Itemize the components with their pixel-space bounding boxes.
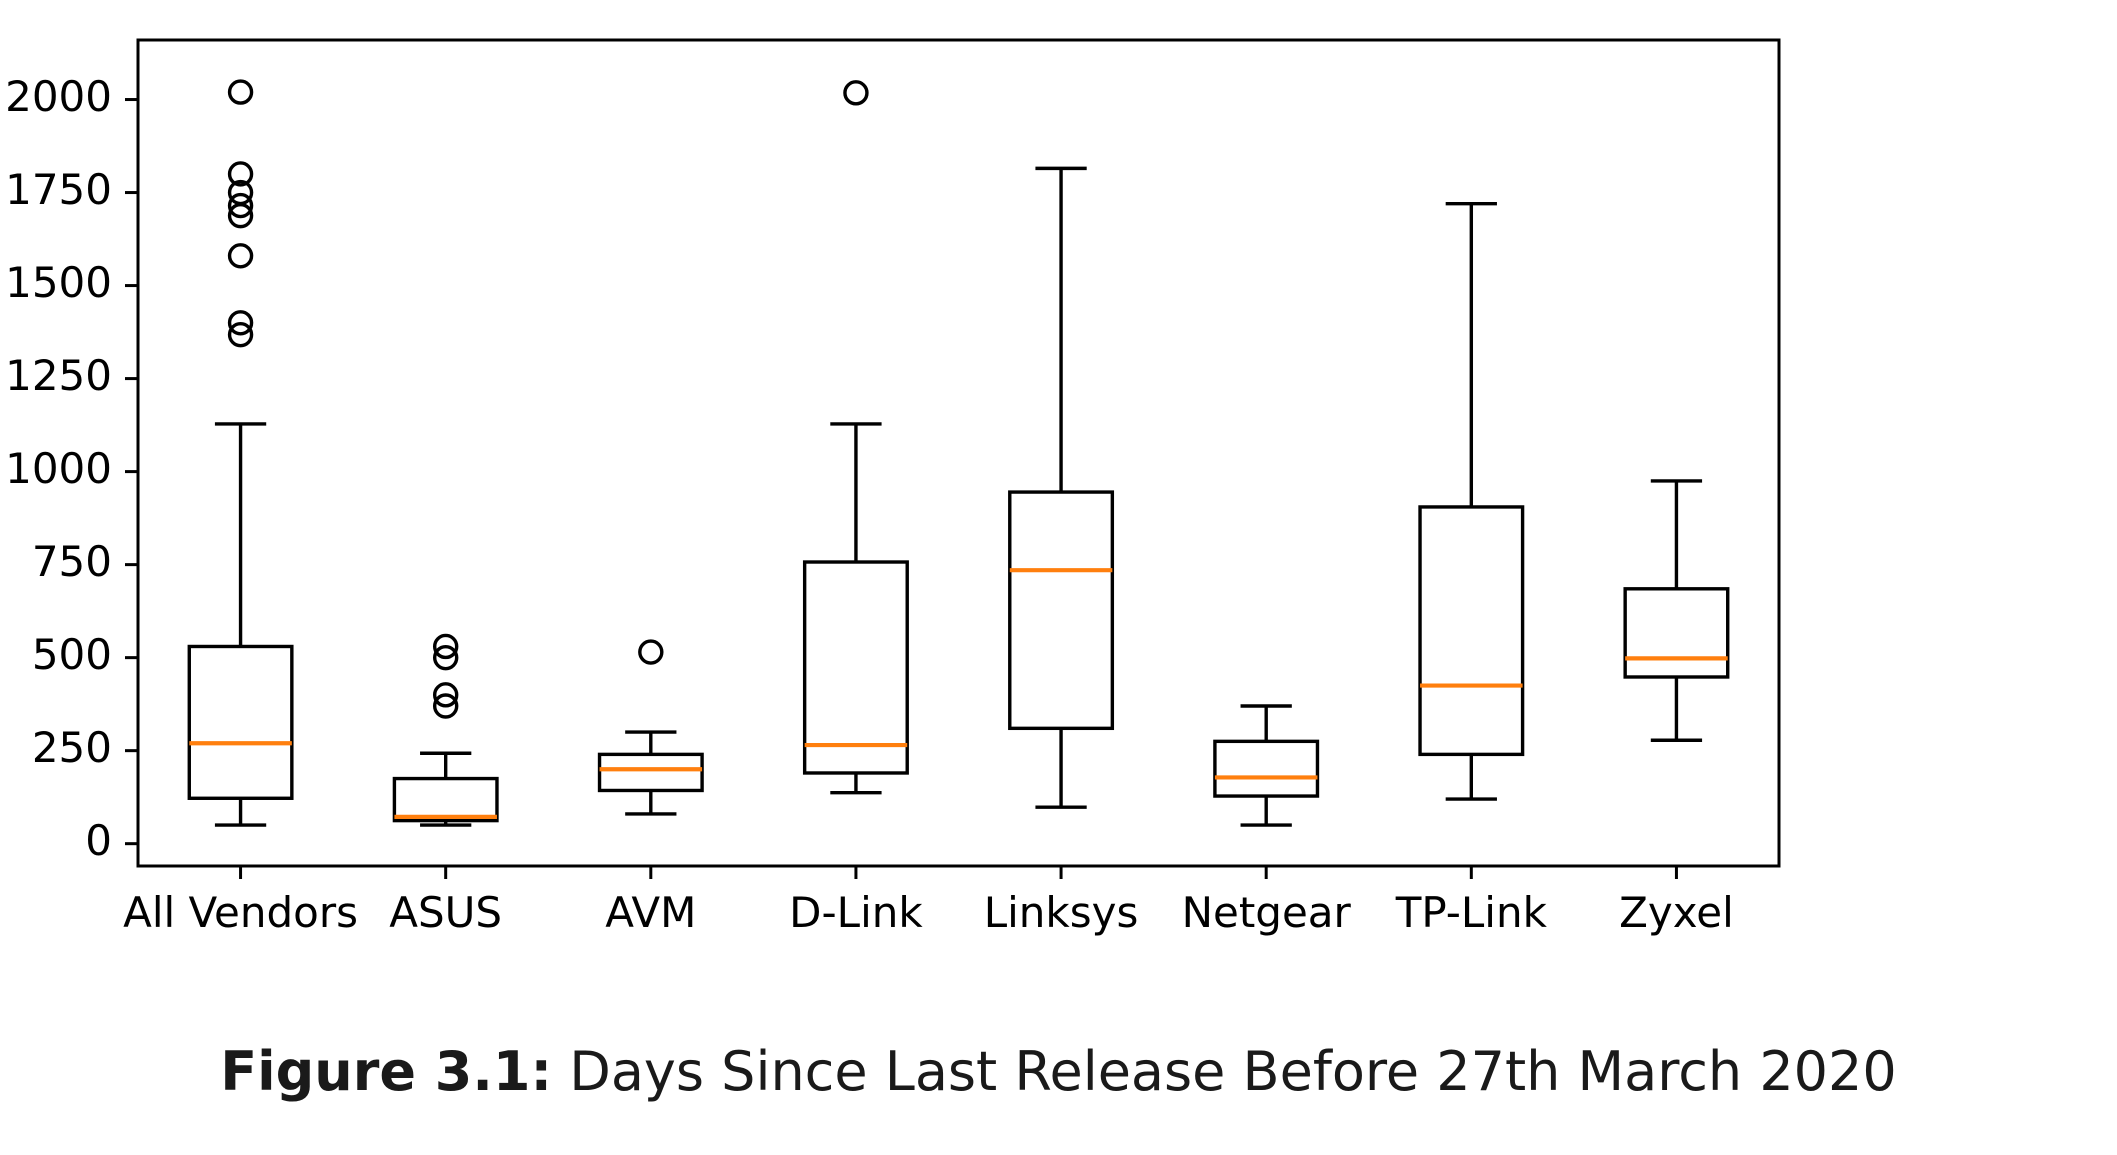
box-iqr [1215, 741, 1318, 796]
box-iqr [600, 754, 703, 790]
outlier-point [640, 641, 662, 663]
y-tick-label: 500 [32, 630, 112, 679]
x-tick-label-all-vendors: All Vendors [123, 888, 358, 937]
box-series [189, 81, 1727, 825]
box-iqr [1420, 507, 1523, 754]
x-tick-label-netgear: Netgear [1182, 888, 1352, 937]
outlier-point [230, 81, 252, 103]
caption-text: Days Since Last Release Before 27th Marc… [569, 1040, 1897, 1103]
boxplot-chart: 025050075010001250150017502000 All Vendo… [0, 0, 2117, 990]
x-tick-label-d-link: D-Link [789, 888, 923, 937]
y-tick-label: 2000 [5, 72, 112, 121]
caption-label: Figure 3.1: [220, 1040, 552, 1103]
outlier-point [845, 82, 867, 104]
boxplot-tp-link [1420, 204, 1523, 799]
box-iqr [805, 562, 908, 773]
boxplot-netgear [1215, 706, 1318, 825]
figure-caption: Figure 3.1: Days Since Last Release Befo… [0, 1040, 2117, 1103]
y-tick-label: 750 [32, 537, 112, 586]
figure-container: 025050075010001250150017502000 All Vendo… [0, 0, 2117, 1155]
y-tick-label: 250 [32, 723, 112, 772]
boxplot-d-link [805, 82, 908, 793]
x-tick-label-asus: ASUS [389, 888, 502, 937]
x-tick-label-avm: AVM [605, 888, 696, 937]
plot-frame [138, 40, 1779, 866]
x-tick-label-tp-link: TP-Link [1395, 888, 1548, 937]
x-axis-ticks: All VendorsASUSAVMD-LinkLinksysNetgearTP… [123, 866, 1734, 937]
box-iqr [1010, 492, 1113, 728]
boxplot-linksys [1010, 168, 1113, 807]
x-tick-label-linksys: Linksys [984, 888, 1139, 937]
box-iqr [189, 646, 292, 798]
axes-frame [138, 40, 1779, 866]
boxplot-zyxel [1625, 481, 1728, 740]
outlier-point [230, 245, 252, 267]
boxplot-asus [394, 635, 497, 825]
y-tick-label: 0 [85, 816, 112, 865]
boxplot-all-vendors [189, 81, 292, 825]
y-tick-label: 1750 [5, 165, 112, 214]
box-iqr [1625, 589, 1728, 677]
y-tick-label: 1500 [5, 258, 112, 307]
y-axis-ticks: 025050075010001250150017502000 [5, 72, 138, 865]
x-tick-label-zyxel: Zyxel [1619, 888, 1734, 937]
boxplot-avm [600, 641, 703, 814]
box-iqr [394, 779, 497, 821]
y-tick-label: 1000 [5, 444, 112, 493]
boxplot-svg: 025050075010001250150017502000 All Vendo… [0, 0, 2117, 990]
y-tick-label: 1250 [5, 351, 112, 400]
